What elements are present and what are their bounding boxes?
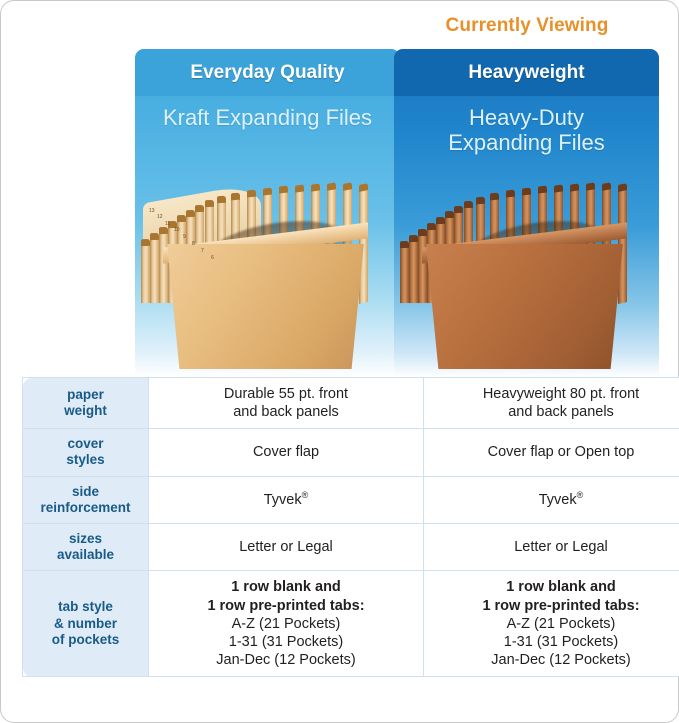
row-label-side-reinforcement: side reinforcement (23, 476, 149, 523)
file-front-panel (422, 244, 627, 369)
tab-number: 12 (157, 214, 163, 220)
spec-cell-left-tab-style: 1 row blank and 1 row pre-printed tabs: … (149, 571, 424, 677)
spec-line: 1 row blank and (155, 578, 417, 596)
kraft-expanding-file-illustration: 13 12 11 10 9 8 7 6 (135, 164, 400, 369)
row-label-line: sizes (29, 531, 142, 547)
spec-line: Jan-Dec (12 Pockets) (430, 651, 679, 669)
product-panel-heavyweight[interactable]: Heavyweight Heavy-Duty Expanding Files (394, 49, 659, 377)
row-label-line: weight (29, 403, 142, 419)
row-label-paper-weight: paper weight (23, 378, 149, 429)
row-label-line: reinforcement (29, 500, 142, 516)
row-label-line: paper (29, 387, 142, 403)
panel-titlebar-everyday-quality: Everyday Quality (135, 49, 400, 96)
spec-comparison-table: paper weight Durable 55 pt. front and ba… (22, 377, 679, 677)
panel-titlebar-heavyweight: Heavyweight (394, 49, 659, 96)
row-label-line: & number (29, 616, 142, 632)
spec-line: 1-31 (31 Pockets) (430, 633, 679, 651)
tab-number: 6 (211, 255, 214, 261)
row-label-line: styles (29, 452, 142, 468)
spec-line: 1-31 (31 Pockets) (155, 633, 417, 651)
spec-line: and back panels (155, 403, 417, 421)
spec-line: and back panels (430, 403, 679, 421)
panel-subtitle: Heavy-Duty Expanding Files (394, 105, 659, 156)
spec-line: Letter or Legal (430, 538, 679, 556)
spec-line: Cover flap or Open top (430, 443, 679, 461)
row-label-tab-style: tab style & number of pockets (23, 571, 149, 677)
spec-cell-right-cover-styles: Cover flap or Open top (424, 429, 679, 476)
panel-title: Everyday Quality (190, 62, 344, 84)
panel-subtitle-line: Expanding Files (394, 130, 659, 155)
tab-number: 7 (201, 248, 204, 254)
comparison-chart-page: Currently Viewing (0, 0, 679, 723)
row-label-line: cover (29, 436, 142, 452)
table-row: paper weight Durable 55 pt. front and ba… (23, 378, 679, 429)
spec-cell-right-paper-weight: Heavyweight 80 pt. front and back panels (424, 378, 679, 429)
panel-subtitle-line: Kraft Expanding Files (135, 105, 400, 130)
row-label-line: tab style (29, 599, 142, 615)
tab-number: 13 (149, 208, 155, 214)
spec-cell-right-tab-style: 1 row blank and 1 row pre-printed tabs: … (424, 571, 679, 677)
panel-title: Heavyweight (468, 62, 584, 84)
product-panel-everyday-quality[interactable]: 13 12 11 10 9 8 7 6 Everyday Quality Kra… (135, 49, 400, 377)
row-label-line: available (29, 547, 142, 563)
spec-cell-right-side-reinforcement: Tyvek® (424, 476, 679, 523)
spec-line: 1 row blank and (430, 578, 679, 596)
spec-line: A-Z (21 Pockets) (430, 615, 679, 633)
tab-number: 8 (192, 241, 195, 247)
row-label-line: side (29, 484, 142, 500)
spec-cell-right-sizes-available: Letter or Legal (424, 524, 679, 571)
tab-number: 10 (174, 227, 180, 233)
panel-subtitle: Kraft Expanding Files (135, 105, 400, 130)
spec-cell-left-side-reinforcement: Tyvek® (149, 476, 424, 523)
panel-subtitle-line: Heavy-Duty (394, 105, 659, 130)
spec-cell-left-paper-weight: Durable 55 pt. front and back panels (149, 378, 424, 429)
spec-line: Jan-Dec (12 Pockets) (155, 651, 417, 669)
tab-number: 9 (183, 234, 186, 240)
spec-line: 1 row pre-printed tabs: (430, 597, 679, 615)
spec-line: Durable 55 pt. front (155, 385, 417, 403)
spec-line: A-Z (21 Pockets) (155, 615, 417, 633)
spec-line: 1 row pre-printed tabs: (155, 597, 417, 615)
table-row: cover styles Cover flap Cover flap or Op… (23, 429, 679, 476)
row-label-line: of pockets (29, 632, 142, 648)
spec-line: Tyvek (539, 492, 577, 508)
table-row: side reinforcement Tyvek® Tyvek® (23, 476, 679, 523)
registered-mark: ® (302, 490, 309, 500)
table-row: sizes available Letter or Legal Letter o… (23, 524, 679, 571)
heavy-duty-expanding-file-illustration (394, 164, 659, 369)
row-label-sizes-available: sizes available (23, 524, 149, 571)
file-front-panel (163, 244, 368, 369)
table-row: tab style & number of pockets 1 row blan… (23, 571, 679, 677)
row-label-cover-styles: cover styles (23, 429, 149, 476)
tab-number: 11 (165, 221, 170, 227)
spec-cell-left-sizes-available: Letter or Legal (149, 524, 424, 571)
registered-mark: ® (577, 490, 584, 500)
spec-line: Letter or Legal (155, 538, 417, 556)
spec-cell-left-cover-styles: Cover flap (149, 429, 424, 476)
currently-viewing-label: Currently Viewing (394, 15, 660, 37)
spec-line: Tyvek (264, 492, 302, 508)
spec-line: Cover flap (155, 443, 417, 461)
spec-line: Heavyweight 80 pt. front (430, 385, 679, 403)
